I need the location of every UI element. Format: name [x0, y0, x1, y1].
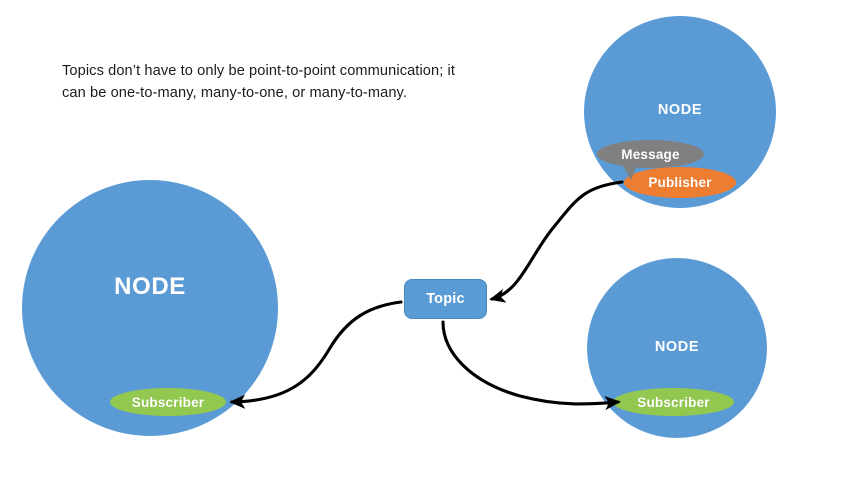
caption-text: Topics don’t have to only be point-to-po… — [62, 60, 492, 104]
node-left-label: NODE — [22, 273, 278, 301]
diagram-canvas: Topics don’t have to only be point-to-po… — [0, 0, 854, 480]
arrow-publisher-to-topic — [492, 182, 622, 299]
subscriber-pill-left[interactable]: Subscriber — [110, 388, 226, 416]
message-bubble[interactable]: Message — [597, 140, 704, 168]
node-bottom-right-label: NODE — [587, 339, 767, 355]
subscriber-pill-bottom-right[interactable]: Subscriber — [613, 388, 734, 416]
publisher-pill[interactable]: Publisher — [624, 167, 736, 198]
topic-box[interactable]: Topic — [404, 279, 487, 319]
node-top-right-label: NODE — [584, 102, 776, 118]
